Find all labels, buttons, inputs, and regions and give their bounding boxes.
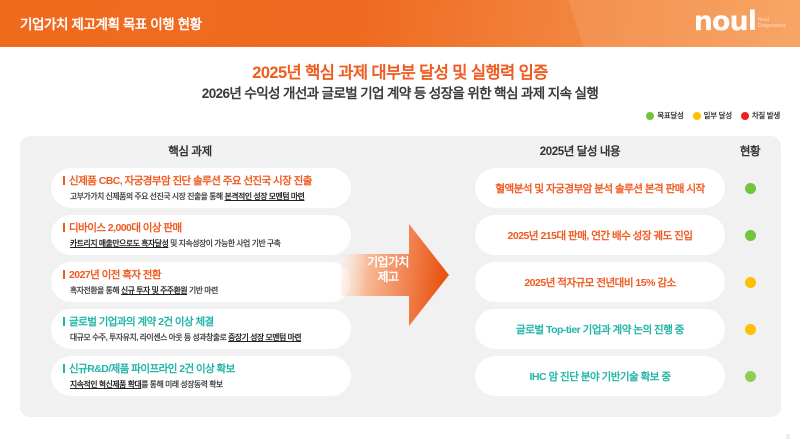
center-arrow: 기업가치 제고: [335, 150, 455, 400]
noul-logo: noul Noul Diagnostics: [694, 8, 786, 35]
task-subtitle-emphasis: 본격적인 성장 모멘텀 마련: [225, 192, 305, 201]
column-header-status: 현황: [725, 143, 775, 159]
task-title-text: 글로벌 기업과의 계약 2건 이상 체결: [69, 316, 214, 328]
page-header: 기업가치 제고계획 목표 이행 현황 noul Noul Diagnostics: [0, 0, 800, 47]
legend-label: 목표달성: [657, 110, 683, 121]
achievement-text: IHC 암 진단 분야 기반기술 확보 중: [529, 369, 670, 384]
task-subtitle: 지속적인 혁신제품 확대를 통해 미래 성장동력 확보: [70, 379, 341, 390]
bullet-bar-icon: [63, 317, 65, 326]
achievement-row[interactable]: 2025년 적자규모 전년대비 15% 감소: [475, 262, 725, 302]
page-number: 8: [786, 434, 790, 441]
bullet-bar-icon: [63, 176, 65, 185]
arrow-label-line2: 제고: [378, 270, 399, 284]
status-badge: [745, 183, 756, 194]
task-subtitle-tail: 기반 마련: [187, 286, 218, 295]
legend-dot-icon: [693, 112, 701, 120]
logo-tagline-line1: Noul: [758, 17, 769, 23]
task-title: 2027년 이전 흑자 전환: [63, 267, 341, 282]
task-subtitle-tail: 를 통해 미래 성장동력 확보: [141, 380, 223, 389]
task-title: 디바이스 2,000대 이상 판매: [63, 220, 341, 235]
status-cell: [725, 356, 775, 396]
achievement-text: 글로벌 Top-tier 기업과 계약 논의 진행 중: [516, 322, 684, 337]
task-row[interactable]: 신제품 CBC, 자궁경부암 진단 솔루션 주요 선진국 시장 진출고부가가치 …: [51, 168, 351, 208]
status-list: [725, 168, 775, 403]
task-subtitle: 흑자전환을 통해 신규 투자 및 주주환원 기반 마련: [70, 285, 341, 296]
achievement-row[interactable]: 혈액분석 및 자궁경부암 분석 솔루션 본격 판매 시작: [475, 168, 725, 208]
achievement-row[interactable]: 2025년 215대 판매, 연간 배수 성장 궤도 진입: [475, 215, 725, 255]
status-legend: 목표달성일부 달성차질 발생: [646, 110, 780, 121]
legend-item: 차질 발생: [741, 110, 780, 121]
achievement-text: 혈액분석 및 자궁경부암 분석 솔루션 본격 판매 시작: [495, 181, 704, 196]
logo-wordmark: noul: [694, 8, 756, 35]
task-list: 신제품 CBC, 자궁경부암 진단 솔루션 주요 선진국 시장 진출고부가가치 …: [51, 168, 351, 403]
status-badge: [745, 277, 756, 288]
status-badge: [745, 230, 756, 241]
task-title-text: 디바이스 2,000대 이상 판매: [69, 222, 182, 234]
status-cell: [725, 168, 775, 208]
achievement-row[interactable]: 글로벌 Top-tier 기업과 계약 논의 진행 중: [475, 309, 725, 349]
status-cell: [725, 215, 775, 255]
task-title: 글로벌 기업과의 계약 2건 이상 체결: [63, 314, 341, 329]
achievement-list: 혈액분석 및 자궁경부암 분석 솔루션 본격 판매 시작2025년 215대 판…: [475, 168, 725, 403]
task-subtitle-emphasis: 중장기 성장 모멘텀 마련: [228, 333, 301, 342]
task-subtitle: 대규모 수주, 투자유치, 라이센스 아웃 등 성과창출로 중장기 성장 모멘텀…: [70, 332, 341, 343]
legend-item: 목표달성: [646, 110, 683, 121]
logo-tagline-line2: Diagnostics: [758, 23, 786, 29]
arrow-label: 기업가치 제고: [335, 255, 441, 285]
legend-dot-icon: [741, 112, 749, 120]
legend-label: 일부 달성: [704, 110, 732, 121]
bullet-bar-icon: [63, 270, 65, 279]
task-subtitle-emphasis: 신규 투자 및 주주환원: [121, 286, 187, 295]
sub-title: 2026년 수익성 개선과 글로벌 기업 계약 등 성장을 위한 핵심 과제 지…: [0, 82, 800, 102]
task-subtitle: 카트리지 매출만으로도 흑자달성 및 지속성장이 가능한 사업 기반 구축: [70, 238, 341, 249]
status-cell: [725, 309, 775, 349]
status-cell: [725, 262, 775, 302]
task-subtitle-tail: 및 지속성장이 가능한 사업 기반 구축: [168, 239, 280, 248]
bullet-bar-icon: [63, 223, 65, 232]
task-row[interactable]: 2027년 이전 흑자 전환흑자전환을 통해 신규 투자 및 주주환원 기반 마…: [51, 262, 351, 302]
achievement-row[interactable]: IHC 암 진단 분야 기반기술 확보 중: [475, 356, 725, 396]
status-badge: [745, 324, 756, 335]
task-subtitle-emphasis: 지속적인 혁신제품 확대: [70, 380, 141, 389]
legend-label: 차질 발생: [752, 110, 780, 121]
header-title: 기업가치 제고계획 목표 이행 현황: [20, 13, 202, 33]
logo-tagline: Noul Diagnostics: [758, 17, 786, 29]
column-header-task: 핵심 과제: [40, 143, 340, 159]
task-subtitle-emphasis: 카트리지 매출만으로도 흑자달성: [70, 239, 168, 248]
bullet-bar-icon: [63, 364, 65, 373]
task-title: 신규R&D/제품 파이프라인 2건 이상 확보: [63, 361, 341, 376]
task-row[interactable]: 디바이스 2,000대 이상 판매카트리지 매출만으로도 흑자달성 및 지속성장…: [51, 215, 351, 255]
column-header-achievement: 2025년 달성 내용: [440, 143, 720, 159]
legend-item: 일부 달성: [693, 110, 732, 121]
task-title-text: 신규R&D/제품 파이프라인 2건 이상 확보: [69, 363, 235, 375]
task-subtitle-plain: 흑자전환을 통해: [70, 286, 121, 295]
task-subtitle-plain: 대규모 수주, 투자유치, 라이센스 아웃 등 성과창출로: [70, 333, 228, 342]
achievement-text: 2025년 215대 판매, 연간 배수 성장 궤도 진입: [508, 228, 693, 243]
task-title-text: 신제품 CBC, 자궁경부암 진단 솔루션 주요 선진국 시장 진출: [69, 175, 312, 187]
task-title: 신제품 CBC, 자궁경부암 진단 솔루션 주요 선진국 시장 진출: [63, 173, 341, 188]
arrow-label-line1: 기업가치: [367, 255, 409, 269]
task-row[interactable]: 신규R&D/제품 파이프라인 2건 이상 확보지속적인 혁신제품 확대를 통해 …: [51, 356, 351, 396]
task-row[interactable]: 글로벌 기업과의 계약 2건 이상 체결대규모 수주, 투자유치, 라이센스 아…: [51, 309, 351, 349]
task-title-text: 2027년 이전 흑자 전환: [69, 269, 161, 281]
task-subtitle-plain: 고부가가치 신제품의 주요 선진국 시장 진출을 통해: [70, 192, 225, 201]
legend-dot-icon: [646, 112, 654, 120]
task-subtitle: 고부가가치 신제품의 주요 선진국 시장 진출을 통해 본격적인 성장 모멘텀 …: [70, 191, 341, 202]
achievement-text: 2025년 적자규모 전년대비 15% 감소: [524, 275, 675, 290]
status-badge: [745, 371, 756, 382]
main-title: 2025년 핵심 과제 대부분 달성 및 실행력 입증: [0, 59, 800, 83]
